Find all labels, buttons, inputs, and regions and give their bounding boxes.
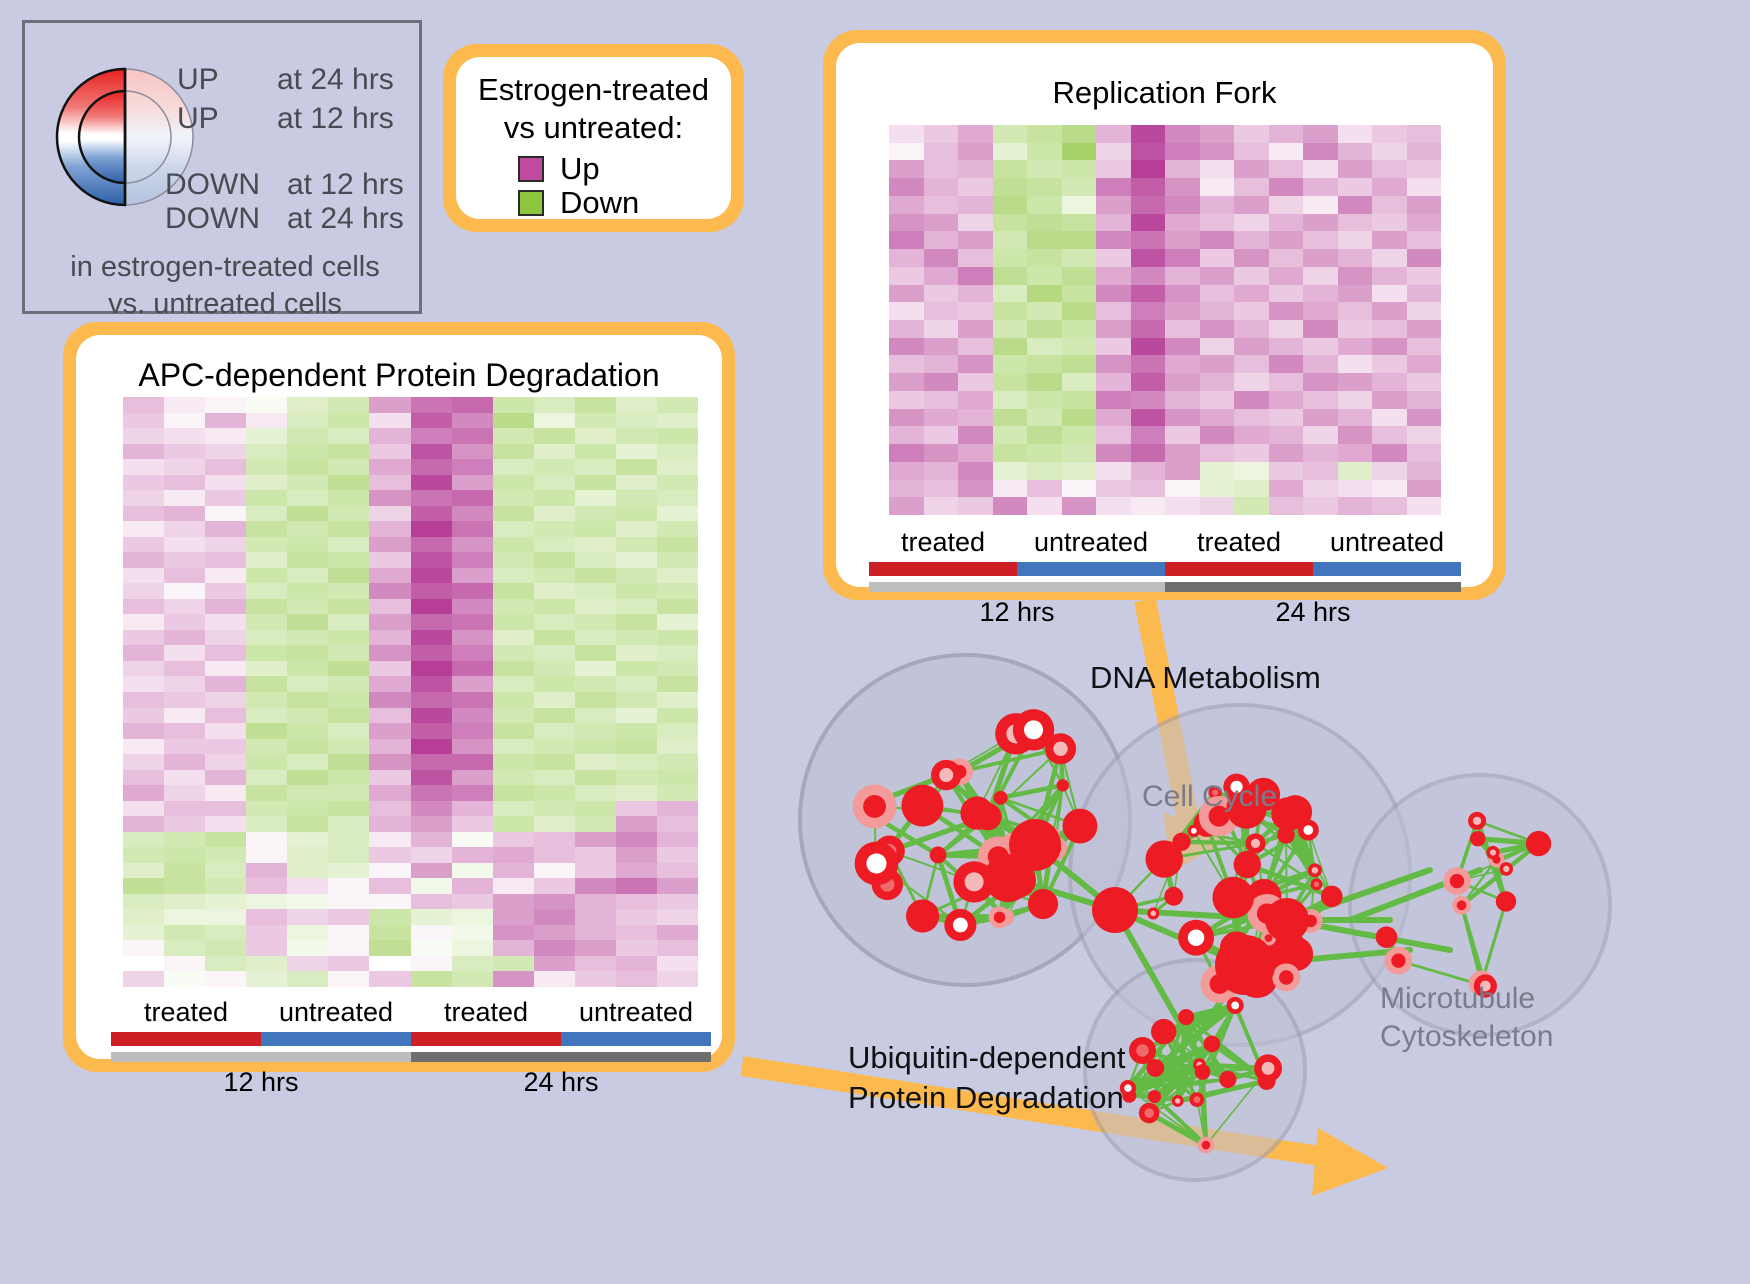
heatmap-cell <box>1096 497 1131 515</box>
group-bar-untreated-24 <box>1313 562 1461 576</box>
network-node[interactable] <box>1188 825 1201 838</box>
heatmap-cell <box>1372 480 1407 498</box>
heatmap-cell <box>328 832 369 848</box>
heatmap-cell <box>1338 143 1373 161</box>
heatmap-cell <box>1165 355 1200 373</box>
network-node[interactable] <box>1219 1071 1236 1088</box>
heatmap-cell <box>889 196 924 214</box>
heatmap-cell <box>328 521 369 537</box>
heatmap-cell <box>924 391 959 409</box>
network-node[interactable] <box>1443 867 1471 895</box>
heatmap-cell <box>287 552 328 568</box>
network-node[interactable] <box>1148 1090 1161 1103</box>
heatmap-cell <box>164 894 205 910</box>
heatmap-cell <box>493 940 534 956</box>
network-node[interactable] <box>1164 887 1183 906</box>
heatmap-cell <box>1200 214 1235 232</box>
updown-legend-panel: Estrogen-treated vs untreated: Up Down <box>443 44 744 232</box>
heatmap-cell <box>1096 231 1131 249</box>
heatmap-cell <box>493 832 534 848</box>
heatmap-cell <box>452 925 493 941</box>
heatmap-cell <box>246 568 287 584</box>
heatmap-cell <box>493 506 534 522</box>
heatmap-cell <box>1269 462 1304 480</box>
heatmap-cell <box>575 521 616 537</box>
heatmap-cell <box>1407 249 1442 267</box>
heatmap-cell <box>287 971 328 987</box>
heatmap-cell <box>164 739 205 755</box>
network-node[interactable] <box>1277 826 1295 844</box>
heatmap-cell <box>1303 267 1338 285</box>
group-name-1: untreated <box>1017 525 1165 559</box>
heatmap-cell <box>657 506 698 522</box>
heatmap-cell <box>369 599 410 615</box>
heatmap-cell <box>493 428 534 444</box>
heatmap-cell <box>575 723 616 739</box>
heatmap-cell <box>123 692 164 708</box>
heatmap-cell <box>657 878 698 894</box>
heatmap-cell <box>534 506 575 522</box>
network-node[interactable] <box>1189 1092 1204 1107</box>
heatmap-cell <box>205 645 246 661</box>
network-node[interactable] <box>1178 1009 1194 1025</box>
heatmap-cell <box>1269 355 1304 373</box>
heatmap-cell <box>287 739 328 755</box>
heatmap-cell <box>1372 178 1407 196</box>
time-color-bar-replication-fork <box>869 582 1461 592</box>
heatmap-cell <box>1200 497 1235 515</box>
heatmap-cell <box>534 863 575 879</box>
network-node[interactable] <box>1198 1137 1215 1154</box>
heatmap-cell <box>1407 143 1442 161</box>
heatmap-cell <box>1165 214 1200 232</box>
heatmap-cell <box>452 971 493 987</box>
heatmap-cell <box>1234 302 1269 320</box>
heatmap-cell <box>328 863 369 879</box>
network-node[interactable] <box>1265 898 1309 942</box>
heatmap-cell <box>246 847 287 863</box>
network-node[interactable] <box>1212 877 1254 919</box>
heatmap-cell <box>1303 426 1338 444</box>
heatmap-cell <box>369 490 410 506</box>
pathway-network: DNA Metabolism Cell Cycle Microtubule Cy… <box>790 620 1740 1279</box>
heatmap-cell <box>369 940 410 956</box>
heatmap-cell <box>993 302 1028 320</box>
heatmap-cell <box>958 196 993 214</box>
heatmap-cell <box>575 506 616 522</box>
heatmap-cell <box>534 537 575 553</box>
heatmap-cell <box>205 490 246 506</box>
heatmap-cell <box>452 754 493 770</box>
network-svg <box>790 620 1740 1279</box>
heatmap-cell <box>924 214 959 232</box>
heatmap-cell <box>123 739 164 755</box>
heatmap-cell <box>1407 444 1442 462</box>
heatmap-cell <box>328 490 369 506</box>
network-node[interactable] <box>994 791 1008 805</box>
heatmap-cell <box>1338 178 1373 196</box>
heatmap-cell <box>1062 320 1097 338</box>
network-node[interactable] <box>1308 863 1322 877</box>
network-node[interactable] <box>1147 907 1159 919</box>
heatmap-cell <box>958 143 993 161</box>
heatmap-cell <box>369 816 410 832</box>
heatmap-cell <box>1096 143 1131 161</box>
heatmap-cell <box>452 413 493 429</box>
network-node[interactable] <box>1245 833 1265 853</box>
heatmap-cell <box>369 847 410 863</box>
heatmap-cell <box>924 196 959 214</box>
heatmap-cell <box>1165 444 1200 462</box>
heatmap-cell <box>328 428 369 444</box>
heatmap-cell <box>452 723 493 739</box>
heatmap-cell <box>493 459 534 475</box>
network-node[interactable] <box>1172 833 1190 851</box>
heatmap-cell <box>1165 480 1200 498</box>
heatmap-cell <box>493 739 534 755</box>
heatmap-cell <box>1407 391 1442 409</box>
heatmap-cell <box>616 413 657 429</box>
heatmap-cell <box>1165 160 1200 178</box>
heatmap-cell <box>369 444 410 460</box>
heatmap-cell <box>369 459 410 475</box>
panel-apc-degradation: APC-dependent Protein Degradation treate… <box>63 322 735 1072</box>
network-node[interactable] <box>1234 851 1261 878</box>
network-node[interactable] <box>1486 846 1499 859</box>
heatmap-cell <box>1096 409 1131 427</box>
network-node[interactable] <box>1063 809 1098 844</box>
heatmap-cell <box>287 428 328 444</box>
heatmap-cell <box>924 480 959 498</box>
heatmap-cell <box>123 909 164 925</box>
scale-caption-line2: vs. untreated cells <box>25 286 425 323</box>
heatmap-cell <box>924 125 959 143</box>
network-node[interactable] <box>1013 709 1054 750</box>
heatmap-cell <box>616 754 657 770</box>
heatmap-cell <box>657 754 698 770</box>
heatmap-cell <box>246 444 287 460</box>
heatmap-cell <box>1200 462 1235 480</box>
network-node[interactable] <box>1215 935 1275 995</box>
network-node[interactable] <box>1227 997 1244 1014</box>
heatmap-cell <box>575 770 616 786</box>
heatmap-cell <box>575 676 616 692</box>
heatmap-cell <box>1027 444 1062 462</box>
time-bar-12 <box>869 582 1165 592</box>
heatmap-cell <box>958 462 993 480</box>
cluster-label-ubiquitin-line1: Ubiquitin-dependent <box>848 1038 1126 1078</box>
heatmap-cell <box>411 413 452 429</box>
heatmap-cell <box>1062 178 1097 196</box>
heatmap-cell <box>411 661 452 677</box>
heatmap-cell <box>534 475 575 491</box>
network-node[interactable] <box>1496 891 1516 911</box>
heatmap-cell <box>1269 480 1304 498</box>
heatmap-cell <box>1131 125 1166 143</box>
heatmap-cell <box>205 739 246 755</box>
heatmap-cell <box>493 971 534 987</box>
group-name-2: treated <box>1165 525 1313 559</box>
heatmap-cell <box>657 801 698 817</box>
heatmap-cell <box>1165 178 1200 196</box>
network-node[interactable] <box>1298 820 1319 841</box>
network-node[interactable] <box>1499 862 1513 876</box>
heatmap-cell <box>452 614 493 630</box>
heatmap-cell <box>575 645 616 661</box>
heatmap-cell <box>246 940 287 956</box>
heatmap-cell <box>657 583 698 599</box>
heatmap-cell <box>123 661 164 677</box>
network-node[interactable] <box>1452 896 1471 915</box>
heatmap-cell <box>889 267 924 285</box>
heatmap-cell <box>657 413 698 429</box>
heatmap-cell <box>575 614 616 630</box>
heatmap-cell <box>328 583 369 599</box>
heatmap-cell <box>287 692 328 708</box>
heatmap-cell <box>246 599 287 615</box>
heatmap-cell <box>369 739 410 755</box>
heatmap-cell <box>1407 178 1442 196</box>
heatmap-cell <box>657 397 698 413</box>
heatmap-cell <box>328 475 369 491</box>
heatmap-cell <box>164 583 205 599</box>
heatmap-cell <box>287 475 328 491</box>
heatmap-cell <box>1096 302 1131 320</box>
heatmap-cell <box>287 723 328 739</box>
network-node[interactable] <box>988 906 1010 928</box>
network-node[interactable] <box>1385 947 1413 975</box>
group-names-replication-fork: treated untreated treated untreated <box>869 525 1461 559</box>
heatmap-cell <box>164 801 205 817</box>
heatmap-cell <box>993 409 1028 427</box>
heatmap-cell <box>1234 249 1269 267</box>
heatmap-cell <box>369 863 410 879</box>
network-node[interactable] <box>1204 1036 1221 1053</box>
network-node[interactable] <box>855 842 899 886</box>
network-node[interactable] <box>930 846 947 863</box>
time-bar-24 <box>411 1052 711 1062</box>
heatmap-cell <box>369 770 410 786</box>
heatmap-cell <box>123 816 164 832</box>
heatmap-cell <box>1303 373 1338 391</box>
network-node[interactable] <box>1195 1064 1211 1080</box>
network-node[interactable] <box>1151 1019 1176 1044</box>
heatmap-cell <box>958 249 993 267</box>
heatmap-cell <box>123 444 164 460</box>
heatmap-cell <box>164 475 205 491</box>
heatmap-cell <box>287 397 328 413</box>
heatmap-cell <box>1096 178 1131 196</box>
network-node[interactable] <box>853 784 897 828</box>
heatmap-cell <box>1269 426 1304 444</box>
heatmap-cell <box>287 832 328 848</box>
heatmap-cell <box>452 878 493 894</box>
heatmap-cell <box>616 956 657 972</box>
heatmap-cell <box>924 143 959 161</box>
heatmap-cell <box>123 475 164 491</box>
heatmap-cell <box>164 909 205 925</box>
heatmap-cell <box>246 645 287 661</box>
heatmap-cell <box>924 249 959 267</box>
network-node[interactable] <box>1311 878 1323 890</box>
network-node[interactable] <box>1526 831 1551 856</box>
network-node[interactable] <box>1321 886 1343 908</box>
heatmap-cell <box>1234 125 1269 143</box>
cluster-label-microtubule: Microtubule Cytoskeleton <box>1380 980 1553 1056</box>
heatmap-cell <box>575 490 616 506</box>
heatmap-cell <box>287 754 328 770</box>
heatmap-cell <box>575 630 616 646</box>
heatmap-cell <box>1338 373 1373 391</box>
time-labels-replication-fork: 12 hrs 24 hrs <box>869 594 1461 630</box>
heatmap-cell <box>575 754 616 770</box>
heatmap-cell <box>1200 231 1235 249</box>
network-node[interactable] <box>1254 1054 1282 1082</box>
network-node[interactable] <box>931 760 961 790</box>
heatmap-cell <box>958 231 993 249</box>
network-node[interactable] <box>1129 1037 1156 1064</box>
heatmap-cell <box>657 863 698 879</box>
network-node[interactable] <box>906 899 939 932</box>
heatmap-cell <box>205 708 246 724</box>
network-node[interactable] <box>1028 889 1058 919</box>
heatmap-cell <box>958 160 993 178</box>
heatmap-cell <box>657 708 698 724</box>
heatmap-cell <box>123 940 164 956</box>
heatmap-cell <box>452 692 493 708</box>
network-node[interactable] <box>944 909 976 941</box>
heatmap-cell <box>1200 426 1235 444</box>
network-node[interactable] <box>1272 963 1300 991</box>
heatmap-cell <box>616 506 657 522</box>
heatmap-cell <box>575 785 616 801</box>
heatmap-cell <box>657 630 698 646</box>
heatmap-cell <box>369 676 410 692</box>
heatmap-cell <box>411 459 452 475</box>
heatmap-cell <box>205 537 246 553</box>
heatmap-cell <box>1407 320 1442 338</box>
heatmap-cell <box>1062 302 1097 320</box>
network-node[interactable] <box>1470 831 1485 846</box>
heatmap-cell <box>287 537 328 553</box>
heatmap-cell <box>889 391 924 409</box>
heatmap-cell <box>575 397 616 413</box>
heatmap-cell <box>1234 462 1269 480</box>
heatmap-cell <box>958 267 993 285</box>
heatmap-cell <box>164 490 205 506</box>
legend-title-line2: vs untreated: <box>456 109 731 147</box>
heatmap-cell <box>1131 249 1166 267</box>
network-node[interactable] <box>1172 1095 1184 1107</box>
network-node[interactable] <box>984 854 1032 902</box>
heatmap-cell <box>205 832 246 848</box>
heatmap-cell <box>205 552 246 568</box>
panel-replication-fork: Replication Fork treated untreated treat… <box>823 30 1506 600</box>
heatmap-cell <box>1096 267 1131 285</box>
heatmap-cell <box>657 459 698 475</box>
heatmap-cell <box>328 614 369 630</box>
heatmap-cell <box>657 692 698 708</box>
heatmap-cell <box>246 537 287 553</box>
heatmap-cell <box>164 614 205 630</box>
heatmap-cell <box>246 832 287 848</box>
heatmap-cell <box>958 497 993 515</box>
network-node[interactable] <box>1057 779 1069 791</box>
heatmap-cell <box>1269 143 1304 161</box>
heatmap-cell <box>657 490 698 506</box>
heatmap-cell <box>1269 231 1304 249</box>
heatmap-cell <box>1303 480 1338 498</box>
heatmap-cell <box>287 506 328 522</box>
heatmap-cell <box>1407 125 1442 143</box>
heatmap-cell <box>411 552 452 568</box>
heatmap-cell <box>287 490 328 506</box>
heatmap-cell <box>958 125 993 143</box>
heatmap-cell <box>328 568 369 584</box>
heatmap-cell <box>411 909 452 925</box>
heatmap-cell <box>1338 444 1373 462</box>
heatmap-cell <box>534 614 575 630</box>
heatmap-cell <box>205 583 246 599</box>
network-node[interactable] <box>1376 926 1398 948</box>
heatmap-cell <box>452 832 493 848</box>
cluster-label-ubiquitin: Ubiquitin-dependent Protein Degradation <box>848 1038 1126 1118</box>
network-node[interactable] <box>974 803 1001 830</box>
heatmap-cell <box>616 785 657 801</box>
heatmap-cell <box>1234 373 1269 391</box>
heatmap-cell <box>1234 355 1269 373</box>
network-node[interactable] <box>1092 887 1138 933</box>
heatmap-cell <box>205 444 246 460</box>
heatmap-cell <box>411 568 452 584</box>
heatmap-cell <box>1303 231 1338 249</box>
heatmap-cell <box>411 614 452 630</box>
network-node[interactable] <box>1139 1103 1160 1124</box>
heatmap-cell <box>246 521 287 537</box>
heatmap-cell <box>287 801 328 817</box>
heatmap-cell <box>1407 338 1442 356</box>
heatmap-cell <box>534 847 575 863</box>
heatmap-cell <box>1062 444 1097 462</box>
heatmap-cell <box>1062 355 1097 373</box>
network-node[interactable] <box>1468 812 1486 830</box>
heatmap-cell <box>657 909 698 925</box>
heatmap-cell <box>1062 338 1097 356</box>
heatmap-cell <box>1234 178 1269 196</box>
heatmap-cell <box>1338 285 1373 303</box>
heatmap-cell <box>1027 462 1062 480</box>
heatmap-cell <box>123 925 164 941</box>
heatmap-replication-fork <box>889 125 1441 515</box>
network-node[interactable] <box>1178 920 1214 956</box>
heatmap-cell <box>1062 125 1097 143</box>
heatmap-cell <box>1338 302 1373 320</box>
heatmap-cell <box>493 614 534 630</box>
heatmap-cell <box>123 614 164 630</box>
heatmap-cell <box>328 909 369 925</box>
heatmap-cell <box>246 459 287 475</box>
network-node[interactable] <box>901 785 943 827</box>
heatmap-cell <box>246 506 287 522</box>
heatmap-cell <box>575 863 616 879</box>
heatmap-cell <box>164 506 205 522</box>
heatmap-cell <box>616 832 657 848</box>
axis-replication-fork: treated untreated treated untreated 12 h <box>869 525 1461 630</box>
heatmap-cell <box>1338 409 1373 427</box>
heatmap-cell <box>164 692 205 708</box>
heatmap-cell <box>1027 231 1062 249</box>
heatmap-cell <box>205 770 246 786</box>
